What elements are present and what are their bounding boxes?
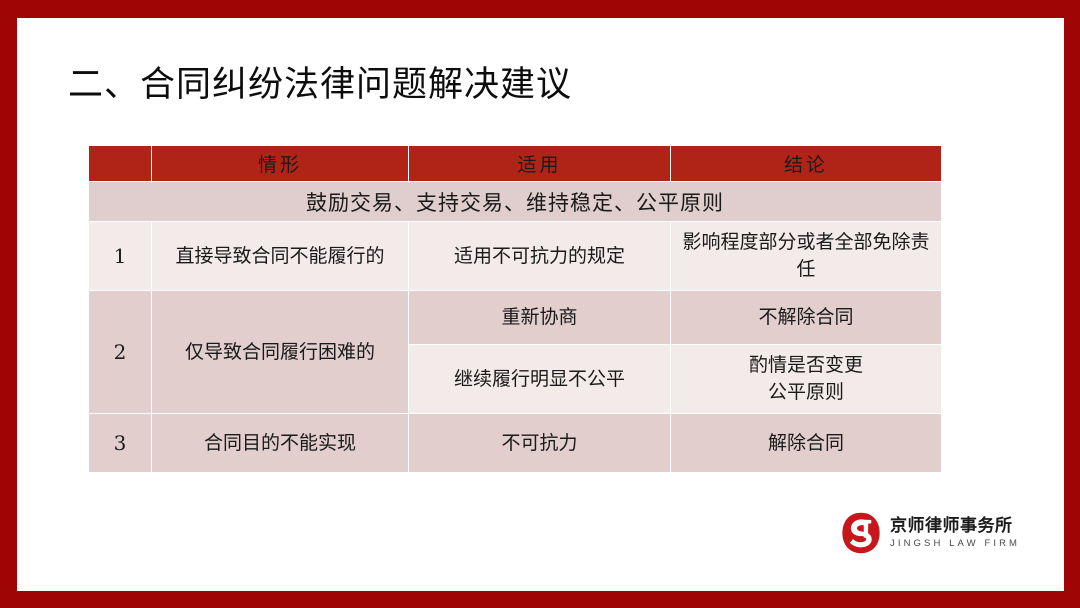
frame-border-top <box>0 0 1080 18</box>
slide-title: 二、合同纠纷法律问题解决建议 <box>68 62 572 108</box>
table-principles-row: 鼓励交易、支持交易、维持稳定、公平原则 <box>89 182 942 222</box>
slide-canvas: 二、合同纠纷法律问题解决建议 情形 适用 结论 鼓励交易、支持交易、维持稳定、公… <box>0 0 1080 608</box>
firm-logo: 京师律师事务所 JINGSH LAW FIRM <box>841 512 1020 554</box>
row-situation: 仅导致合同履行困难的 <box>152 291 409 414</box>
comparison-table-wrapper: 情形 适用 结论 鼓励交易、支持交易、维持稳定、公平原则 1 直接导致合同不能履… <box>88 145 941 473</box>
row-situation: 合同目的不能实现 <box>152 414 409 473</box>
table-row: 3 合同目的不能实现 不可抗力 解除合同 <box>89 414 942 473</box>
header-cell-index <box>89 146 152 182</box>
row-application: 重新协商 <box>409 291 671 345</box>
row-application: 不可抗力 <box>409 414 671 473</box>
row-number: 2 <box>89 291 152 414</box>
header-cell-application: 适用 <box>409 146 671 182</box>
frame-border-bottom <box>0 591 1080 608</box>
table-header-row: 情形 适用 结论 <box>89 146 942 182</box>
row-conclusion: 不解除合同 <box>671 291 942 345</box>
firm-name-cn: 京师律师事务所 <box>890 518 1020 535</box>
table-row: 1 直接导致合同不能履行的 适用不可抗力的规定 影响程度部分或者全部免除责任 <box>89 222 942 291</box>
principles-text: 鼓励交易、支持交易、维持稳定、公平原则 <box>89 182 942 222</box>
logo-text-block: 京师律师事务所 JINGSH LAW FIRM <box>890 518 1020 549</box>
header-cell-situation: 情形 <box>152 146 409 182</box>
row-conclusion: 酌情是否变更公平原则 <box>671 345 942 414</box>
row-number: 3 <box>89 414 152 473</box>
frame-border-left <box>0 0 17 608</box>
frame-border-right <box>1064 0 1080 608</box>
comparison-table: 情形 适用 结论 鼓励交易、支持交易、维持稳定、公平原则 1 直接导致合同不能履… <box>88 145 942 473</box>
row-conclusion: 解除合同 <box>671 414 942 473</box>
row-situation: 直接导致合同不能履行的 <box>152 222 409 291</box>
jingsh-seal-icon <box>841 512 881 554</box>
firm-name-en: JINGSH LAW FIRM <box>890 539 1020 549</box>
row-conclusion: 影响程度部分或者全部免除责任 <box>671 222 942 291</box>
header-cell-conclusion: 结论 <box>671 146 942 182</box>
table-row: 2 仅导致合同履行困难的 重新协商 不解除合同 <box>89 291 942 345</box>
row-number: 1 <box>89 222 152 291</box>
row-application: 适用不可抗力的规定 <box>409 222 671 291</box>
row-application: 继续履行明显不公平 <box>409 345 671 414</box>
